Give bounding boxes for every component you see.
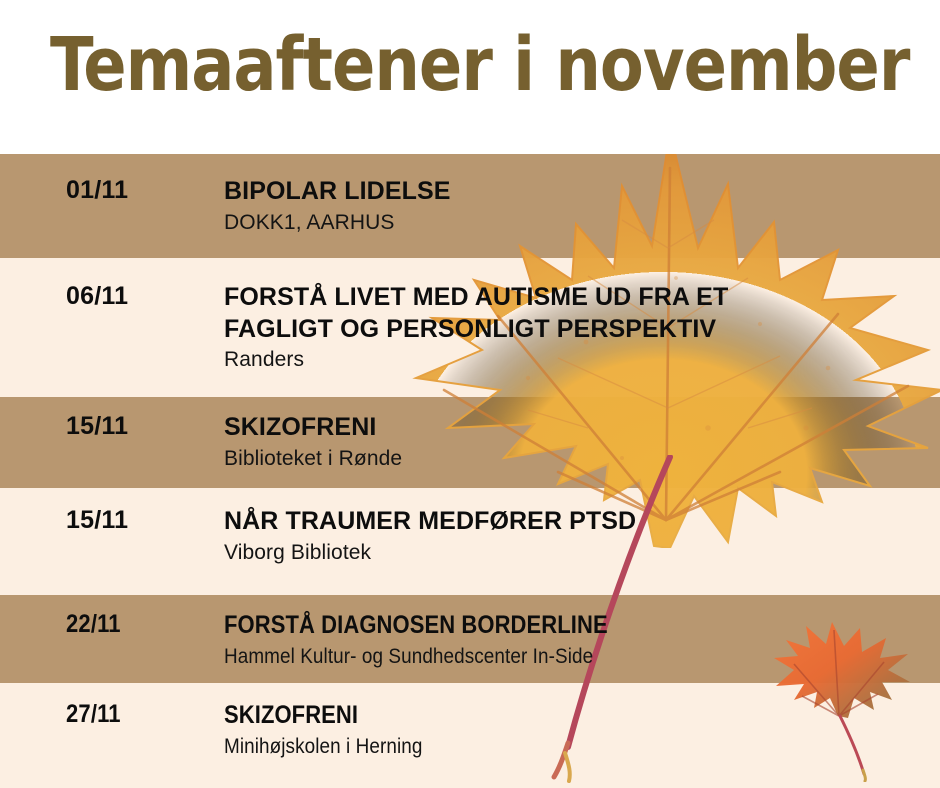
event-title: NÅR TRAUMER MEDFØRER PTSD: [224, 506, 636, 538]
event-date: 06/11: [66, 282, 128, 311]
event-info: FORSTÅ LIVET MED AUTISME UD FRA ET FAGLI…: [224, 282, 728, 373]
event-title: FORSTÅ DIAGNOSEN BORDERLINE: [224, 610, 608, 642]
event-info: SKIZOFRENI Minihøjskolen i Herning: [224, 700, 445, 760]
event-venue: Viborg Bibliotek: [224, 540, 636, 566]
event-info: FORSTÅ DIAGNOSEN BORDERLINE Hammel Kultu…: [224, 610, 660, 670]
event-date: 01/11: [66, 176, 128, 205]
poster: Temaaftener i november 01/11 BIPOLAR LID…: [0, 0, 940, 788]
event-title: SKIZOFRENI: [224, 412, 402, 444]
event-info: BIPOLAR LIDELSE DOKK1, AARHUS: [224, 176, 451, 236]
event-venue: DOKK1, AARHUS: [224, 210, 451, 236]
event-title: SKIZOFRENI: [224, 700, 418, 732]
event-title: FORSTÅ LIVET MED AUTISME UD FRA ET FAGLI…: [224, 282, 728, 345]
event-date: 22/11: [66, 610, 121, 639]
poster-header: Temaaftener i november: [0, 0, 940, 154]
event-info: NÅR TRAUMER MEDFØRER PTSD Viborg Bibliot…: [224, 506, 636, 566]
event-info: SKIZOFRENI Biblioteket i Rønde: [224, 412, 402, 472]
event-title: BIPOLAR LIDELSE: [224, 176, 451, 208]
event-venue: Hammel Kultur- og Sundhedscenter In-Side: [224, 644, 616, 670]
page-title: Temaaftener i november: [50, 28, 909, 102]
event-venue: Biblioteket i Rønde: [224, 446, 402, 472]
event-date: 15/11: [66, 506, 128, 535]
event-date: 15/11: [66, 412, 128, 441]
event-date: 27/11: [66, 700, 121, 729]
event-venue: Minihøjskolen i Herning: [224, 734, 423, 760]
event-venue: Randers: [224, 347, 728, 373]
